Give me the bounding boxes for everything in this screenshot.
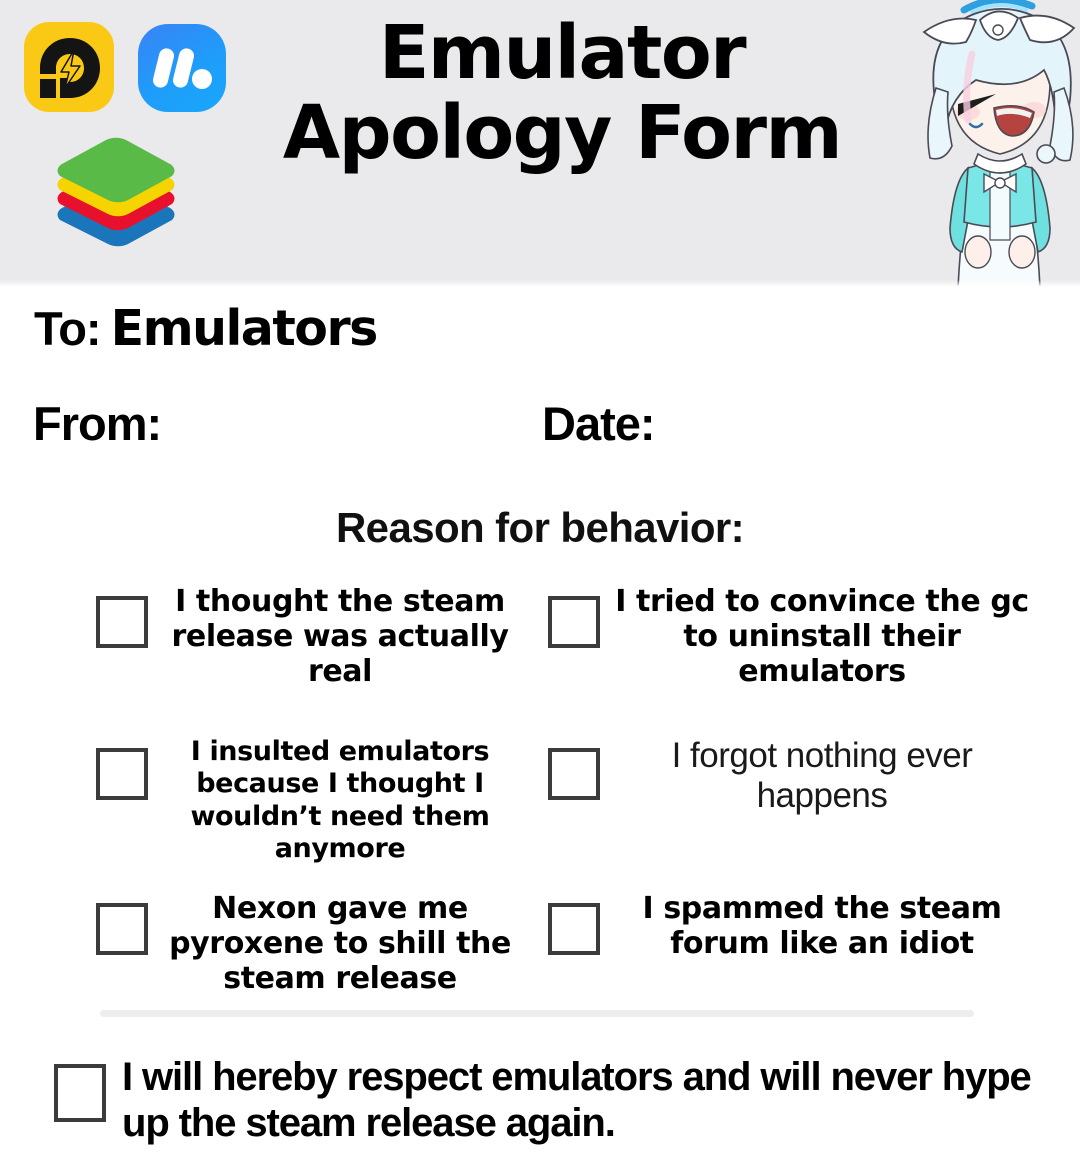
ldplayer-icon (24, 22, 114, 112)
title-line-2: Apology Form (236, 94, 888, 174)
page-title: Emulator Apology Form (236, 14, 888, 174)
reason-item-steam-release-real[interactable]: I thought the steam release was actually… (0, 578, 540, 730)
to-value: Emulators (111, 300, 377, 357)
emulator-logo-cluster (16, 12, 246, 262)
reason-label: I tried to convince the gc to uninstall … (600, 584, 1044, 689)
checkbox-steam-release-real[interactable] (96, 596, 148, 648)
title-line-1: Emulator (236, 14, 888, 94)
reason-heading: Reason for behavior: (0, 504, 1080, 552)
to-field-row: To: Emulators (34, 300, 377, 357)
date-field[interactable]: Date: (542, 396, 655, 451)
form-body: To: Emulators From: Date: Reason for beh… (0, 286, 1080, 1176)
from-field[interactable]: From: (33, 396, 161, 451)
section-divider (100, 1010, 974, 1017)
reason-checkbox-grid: I thought the steam release was actually… (0, 578, 1080, 1003)
checkbox-nexon-pyroxene[interactable] (96, 903, 148, 955)
reason-row: I insulted emulators because I thought I… (0, 730, 1080, 885)
reason-item-convince-gc-uninstall[interactable]: I tried to convince the gc to uninstall … (540, 578, 1080, 730)
checkbox-forgot-nothing-happens[interactable] (548, 748, 600, 800)
reason-label: Nexon gave me pyroxene to shill the stea… (148, 891, 532, 996)
reason-label: I insulted emulators because I thought I… (148, 736, 532, 866)
reason-item-insulted-emulators[interactable]: I insulted emulators because I thought I… (0, 730, 540, 885)
reason-item-spammed-steam-forum[interactable]: I spammed the steam forum like an idiot (540, 885, 1080, 1003)
header-banner: Emulator Apology Form (0, 0, 1080, 286)
checkbox-insulted-emulators[interactable] (96, 748, 148, 800)
bluestacks-icon (46, 134, 186, 262)
reason-row: Nexon gave me pyroxene to shill the stea… (0, 885, 1080, 1003)
reason-row: I thought the steam release was actually… (0, 578, 1080, 730)
reason-item-nexon-pyroxene[interactable]: Nexon gave me pyroxene to shill the stea… (0, 885, 540, 1003)
checkbox-respect-emulators-pledge[interactable] (54, 1064, 106, 1122)
reason-label: I spammed the steam forum like an idiot (600, 891, 1044, 961)
checkbox-spammed-steam-forum[interactable] (548, 903, 600, 955)
pledge-row[interactable]: I will hereby respect emulators and will… (54, 1054, 1044, 1147)
pledge-label: I will hereby respect emulators and will… (122, 1054, 1044, 1147)
reason-label: I thought the steam release was actually… (148, 584, 532, 689)
mumu-player-icon (138, 24, 226, 112)
reason-label: I forgot nothing ever happens (600, 736, 1044, 816)
checkbox-convince-gc-uninstall[interactable] (548, 596, 600, 648)
reason-item-forgot-nothing-happens[interactable]: I forgot nothing ever happens (540, 730, 1080, 885)
emulator-apology-form-page: Emulator Apology Form (0, 0, 1080, 1176)
crying-anime-girl-illustration (910, 0, 1080, 286)
to-label: To: (34, 301, 101, 356)
